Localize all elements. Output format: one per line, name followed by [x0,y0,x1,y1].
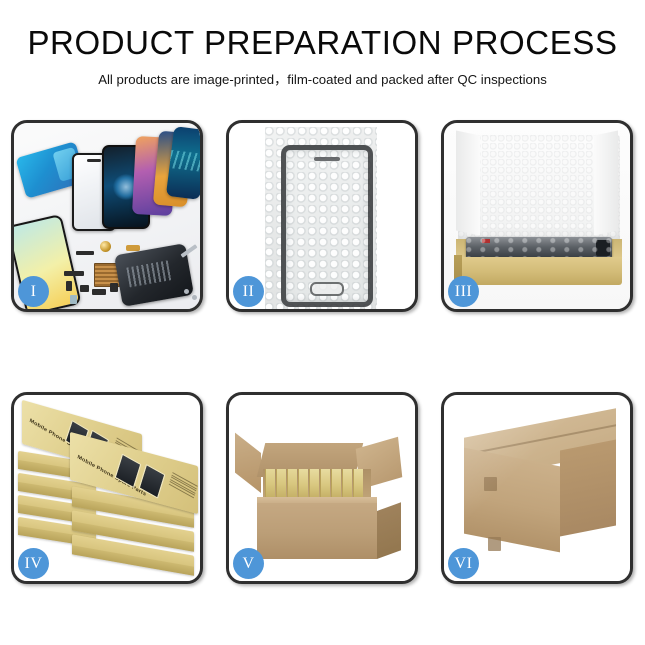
small-part-icon [92,289,106,295]
flex-cable-icon [126,245,140,251]
carton-side-icon [560,440,616,537]
step-badge-4: IV [18,548,49,579]
step-panel-4: Mobile Phone Spare Parts Mobile Phone Sp… [11,392,203,584]
header: PRODUCT PREPARATION PROCESS All products… [0,26,645,88]
packed-box-icon [287,469,297,499]
phone-parts-assortment-image: I [14,123,200,309]
step-badge-6: VI [448,548,479,579]
bubble-wrapped-screen-image: II [229,123,415,309]
packed-box-icon [265,469,275,499]
product-preparation-process-infographic: PRODUCT PREPARATION PROCESS All products… [0,0,645,645]
step-panel-5: V [226,392,418,584]
step-badge-3: III [448,276,479,307]
small-part-icon [66,281,72,291]
home-button-icon [310,282,344,296]
process-steps-grid: I II [11,120,634,584]
speaker-component-icon [100,241,111,252]
page-subtitle: All products are image-printed，film-coat… [0,69,645,88]
packed-box-icon [276,469,286,499]
step-panel-3: III [441,120,633,312]
component-bar-icon [76,251,94,255]
kraft-box-with-foam-image: III [444,123,630,309]
step-badge-2: II [233,276,264,307]
box-spec-lines [168,472,197,500]
box-front-panel-icon [456,257,622,285]
camera-lens-icon [70,295,77,304]
tape-tab-icon [488,537,501,551]
carton-side-icon [377,502,401,559]
page-title: PRODUCT PREPARATION PROCESS [0,26,645,61]
small-part-icon [80,285,89,292]
step-panel-6: VI [441,392,633,584]
screw-icon [192,295,197,300]
open-carton-packed-image: V [229,395,415,581]
step-badge-1: I [18,276,49,307]
carton-front-icon [464,448,560,553]
lcd-part-icon [466,237,612,259]
carton-front-icon [257,503,377,559]
packed-box-icon [342,469,352,499]
packed-box-icon [353,469,363,499]
step-panel-2: II [226,120,418,312]
lcd-marker-icon [482,239,490,243]
box-lid-right-icon [594,130,618,235]
packed-box-icon [331,469,341,499]
step-badge-5: V [233,548,264,579]
carton-flap-left-icon [235,433,261,493]
wrapped-screen-icon [281,145,373,307]
carton-contents [263,469,371,499]
packed-box-icon [309,469,319,499]
packed-box-icon [298,469,308,499]
stacked-retail-boxes-image: Mobile Phone Spare Parts Mobile Phone Sp… [14,395,200,581]
small-part-icon [64,271,84,276]
lcd-connector-icon [596,240,610,256]
box-lid-left-icon [456,130,480,235]
screw-icon [184,289,189,294]
tape-tab-icon [484,477,497,491]
step-panel-1: I [11,120,203,312]
sealed-carton-image: VI [444,395,630,581]
packed-box-icon [320,469,330,499]
small-part-icon [110,283,118,292]
earpiece-slot-icon [314,157,340,161]
